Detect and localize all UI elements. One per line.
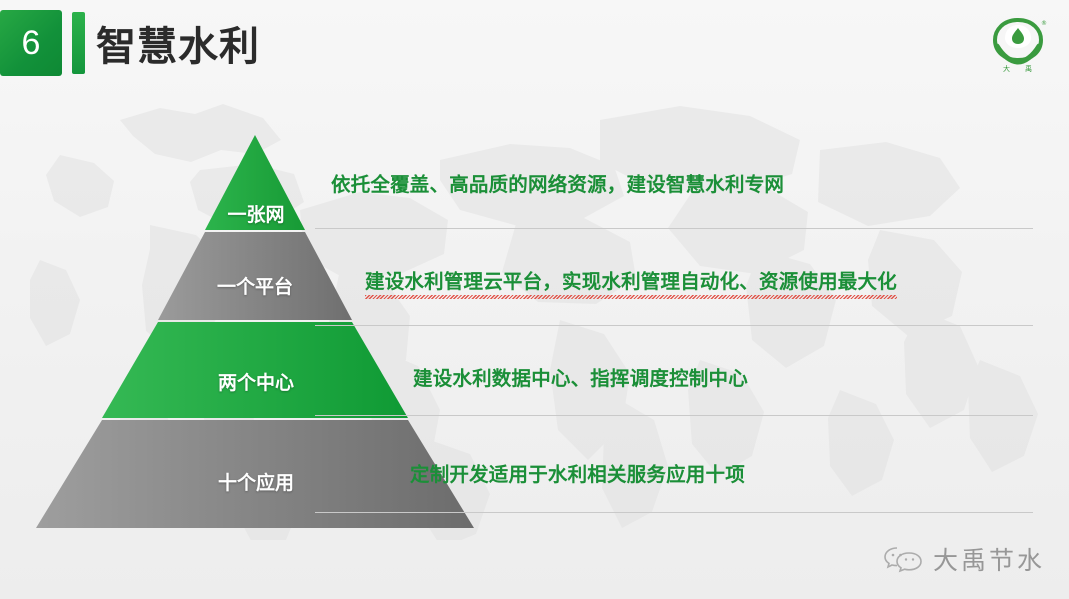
description-row-1: 建设水利管理云平台，实现水利管理自动化、资源使用最大化 bbox=[315, 265, 1035, 294]
description-text-2: 建设水利数据中心、指挥调度控制中心 bbox=[413, 362, 1035, 391]
slide-header: 6 智慧水利 大 禹 ® bbox=[0, 0, 1069, 86]
pyramid-tier-label-1: 一个平台 bbox=[180, 272, 330, 299]
svg-text:禹: 禹 bbox=[1025, 65, 1032, 73]
pyramid-tier-label-3: 十个应用 bbox=[176, 468, 336, 495]
pyramid-tier-label-2: 两个中心 bbox=[176, 368, 336, 395]
svg-text:®: ® bbox=[1041, 20, 1047, 27]
slide-number: 6 bbox=[22, 26, 41, 60]
dayu-water-drop-logo-icon: 大 禹 ® bbox=[985, 12, 1051, 74]
description-row-0: 依托全覆盖、高品质的网络资源，建设智慧水利专网 bbox=[315, 168, 1035, 197]
wechat-account-name: 大禹节水 bbox=[933, 541, 1045, 577]
svg-text:大: 大 bbox=[1003, 64, 1010, 73]
description-row-3: 定制开发适用于水利相关服务应用十项 bbox=[315, 458, 1035, 487]
slide-canvas: 6 智慧水利 大 禹 ® bbox=[0, 0, 1069, 599]
description-list: 依托全覆盖、高品质的网络资源，建设智慧水利专网 建设水利管理云平台，实现水利管理… bbox=[315, 150, 1035, 550]
title-accent-bar bbox=[72, 12, 85, 74]
wechat-icon bbox=[883, 544, 923, 574]
pyramid-tier-label-0: 一张网 bbox=[196, 200, 316, 227]
description-text-1: 建设水利管理云平台，实现水利管理自动化、资源使用最大化 bbox=[365, 265, 897, 294]
description-text-0: 依托全覆盖、高品质的网络资源，建设智慧水利专网 bbox=[331, 168, 1035, 197]
row-divider-1 bbox=[315, 325, 1033, 326]
row-divider-2 bbox=[315, 415, 1033, 416]
page-title: 智慧水利 bbox=[96, 12, 260, 74]
slide-number-badge: 6 bbox=[0, 10, 62, 76]
row-divider-0 bbox=[315, 228, 1033, 229]
description-row-2: 建设水利数据中心、指挥调度控制中心 bbox=[315, 362, 1035, 391]
description-text-3: 定制开发适用于水利相关服务应用十项 bbox=[410, 458, 1035, 487]
row-divider-3 bbox=[315, 512, 1033, 513]
wechat-watermark: 大禹节水 bbox=[883, 541, 1045, 577]
